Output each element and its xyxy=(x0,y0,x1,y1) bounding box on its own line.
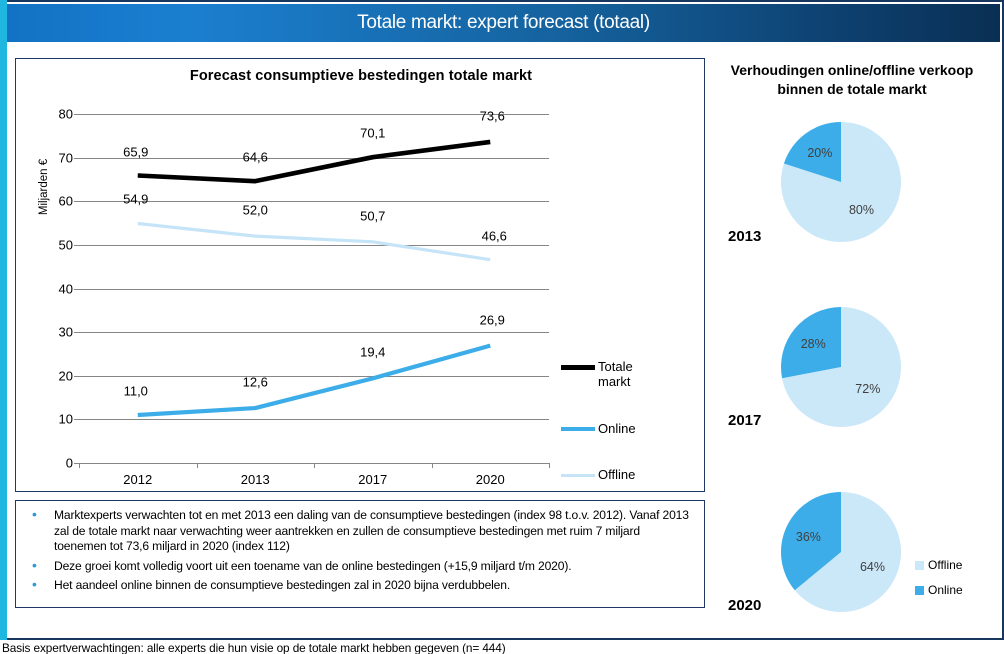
bullet-text: Marktexperts verwachten tot en met 2013 … xyxy=(54,508,694,555)
pie-year-label: 2017 xyxy=(728,412,761,429)
legend-label: Offline xyxy=(598,467,635,482)
pies-title-line2: binnen de totale markt xyxy=(706,80,998,99)
insight-bullet: •Deze groei komt volledig voort uit een … xyxy=(26,559,694,575)
y-axis-label: 30 xyxy=(33,325,73,340)
y-axis-label: 20 xyxy=(33,368,73,383)
pie-svg xyxy=(777,303,905,431)
series-line-totale-markt xyxy=(138,142,491,181)
pie-label-offline: 72% xyxy=(855,382,880,396)
slide-root: Totale markt: expert forecast (totaal) F… xyxy=(0,0,1004,654)
pie-legend: OfflineOnline xyxy=(915,558,963,608)
bullet-dot-icon: • xyxy=(26,559,54,572)
pies-title: Verhoudingen online/offline verkoop binn… xyxy=(706,61,998,99)
legend-swatch xyxy=(561,474,595,477)
pie-chart-2017 xyxy=(777,303,905,431)
pie-label-online: 20% xyxy=(807,146,832,160)
pie-legend-item-online[interactable]: Online xyxy=(915,583,963,597)
pie-legend-label: Offline xyxy=(928,558,962,572)
legend-label: Online xyxy=(598,421,636,436)
x-axis-tick xyxy=(197,463,198,468)
insight-bullet: •Marktexperts verwachten tot en met 2013… xyxy=(26,508,694,555)
plot-area: 01020304050607080 2012201320172020 65,96… xyxy=(79,114,549,463)
y-axis-title: Miljarden € xyxy=(38,132,50,242)
legend-item-offline[interactable]: Offline xyxy=(561,467,635,482)
pie-chart-2013 xyxy=(777,118,905,246)
x-axis-tick xyxy=(79,463,80,468)
bullet-dot-icon: • xyxy=(26,508,54,521)
insight-bullet: •Het aandeel online binnen de consumptie… xyxy=(26,578,694,594)
x-axis-label: 2012 xyxy=(103,472,173,487)
data-label: 11,0 xyxy=(124,384,148,399)
bullet-text: Het aandeel online binnen de consumptiev… xyxy=(54,578,510,594)
legend-swatch xyxy=(561,427,595,431)
pie-legend-item-offline[interactable]: Offline xyxy=(915,558,963,572)
data-label: 19,4 xyxy=(360,345,385,360)
pie-label-offline: 64% xyxy=(860,560,885,574)
slide-title-bar: Totale markt: expert forecast (totaal) xyxy=(7,4,1000,42)
pie-year-label: 2013 xyxy=(728,228,761,245)
slide-title: Totale markt: expert forecast (totaal) xyxy=(357,12,650,34)
pie-legend-swatch xyxy=(915,561,924,570)
pie-label-online: 36% xyxy=(796,530,821,544)
line-series-svg xyxy=(79,114,549,463)
data-label: 46,6 xyxy=(482,228,507,243)
pie-legend-label: Online xyxy=(928,583,963,597)
data-label: 70,1 xyxy=(360,126,385,141)
y-axis-label: 40 xyxy=(33,281,73,296)
data-label: 65,9 xyxy=(123,144,148,159)
data-label: 52,0 xyxy=(243,203,268,218)
x-axis-label: 2013 xyxy=(220,472,290,487)
data-label: 54,9 xyxy=(123,192,148,207)
y-axis-label: 80 xyxy=(33,107,73,122)
x-axis-tick xyxy=(432,463,433,468)
pie-label-offline: 80% xyxy=(849,203,874,217)
left-accent-bar xyxy=(0,0,7,640)
data-label: 73,6 xyxy=(480,108,505,123)
footer-note: Basis expertverwachtingen: alle experts … xyxy=(2,641,506,654)
line-chart-panel: Forecast consumptieve bestedingen totale… xyxy=(15,58,705,492)
pie-chart-2020 xyxy=(777,488,905,616)
x-axis-tick xyxy=(549,463,550,468)
data-label: 64,6 xyxy=(243,150,268,165)
legend-item-online[interactable]: Online xyxy=(561,421,636,436)
line-chart-title: Forecast consumptieve bestedingen totale… xyxy=(16,68,706,84)
legend-label: Totale markt xyxy=(598,359,650,389)
pie-year-label: 2020 xyxy=(728,597,761,614)
x-axis-label: 2020 xyxy=(455,472,525,487)
y-axis-label: 50 xyxy=(33,237,73,252)
pie-label-online: 28% xyxy=(801,337,826,351)
pie-legend-swatch xyxy=(915,586,924,595)
data-label: 50,7 xyxy=(360,208,385,223)
bullet-dot-icon: • xyxy=(26,578,54,591)
y-axis-label: 0 xyxy=(33,456,73,471)
bullet-text: Deze groei komt volledig voort uit een t… xyxy=(54,559,571,575)
legend-swatch xyxy=(561,365,595,370)
data-label: 26,9 xyxy=(480,312,505,327)
pie-svg xyxy=(777,118,905,246)
x-axis-tick xyxy=(314,463,315,468)
series-line-offline xyxy=(138,223,491,259)
y-axis-label: 70 xyxy=(33,150,73,165)
x-axis-label: 2017 xyxy=(338,472,408,487)
insights-panel: •Marktexperts verwachten tot en met 2013… xyxy=(15,500,705,608)
y-axis-label: 10 xyxy=(33,412,73,427)
pies-title-line1: Verhoudingen online/offline verkoop xyxy=(706,61,998,80)
series-line-online xyxy=(138,346,491,415)
legend-item-totale-markt[interactable]: Totale markt xyxy=(561,359,650,389)
y-axis-label: 60 xyxy=(33,194,73,209)
pie-svg xyxy=(777,488,905,616)
data-label: 12,6 xyxy=(243,375,268,390)
